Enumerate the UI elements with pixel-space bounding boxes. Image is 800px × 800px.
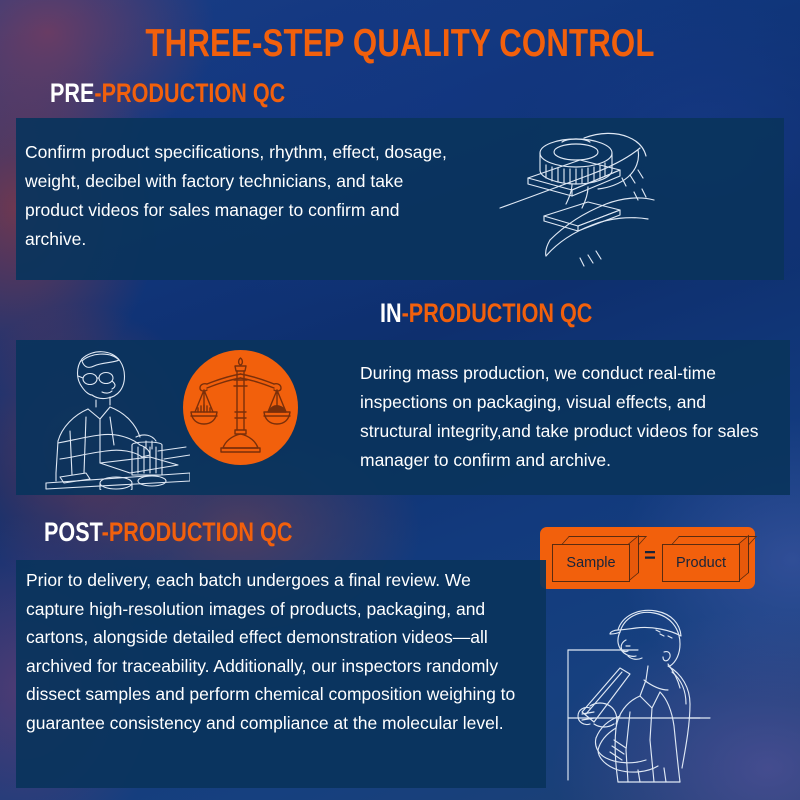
body-text-pre-production: Confirm product specifications, rhythm, … — [25, 138, 465, 254]
sample-label: Sample — [552, 544, 630, 582]
man-reviewing-tablet-icon — [560, 600, 760, 790]
infographic-poster: THREE-STEP QUALITY CONTROL PRE-PRODUCTIO… — [0, 0, 800, 800]
section-heading-in-production-suffix: -PRODUCTION QC — [402, 298, 593, 328]
section-heading-post-production-suffix: -PRODUCTION QC — [102, 517, 293, 547]
product-label: Product — [662, 544, 740, 582]
balance-scale-icon — [183, 350, 298, 465]
hand-holding-device-icon — [488, 120, 678, 270]
page-title: THREE-STEP QUALITY CONTROL — [80, 22, 720, 66]
section-heading-in-production-prefix: IN — [380, 298, 402, 328]
section-heading-pre-production: PRE-PRODUCTION QC — [50, 78, 285, 109]
equals-sign: = — [640, 545, 660, 568]
section-heading-post-production-prefix: POST — [44, 517, 102, 547]
section-heading-in-production: IN-PRODUCTION QC — [380, 298, 592, 329]
technician-inspecting-icon — [40, 345, 190, 490]
section-heading-pre-production-prefix: PRE — [50, 78, 94, 108]
body-text-in-production: During mass production, we conduct real-… — [360, 359, 780, 475]
section-heading-pre-production-suffix: -PRODUCTION QC — [94, 78, 285, 108]
section-heading-post-production: POST-PRODUCTION QC — [44, 517, 292, 548]
body-text-post-production: Prior to delivery, each batch undergoes … — [26, 566, 526, 737]
sample-equals-product-badge: Sample = Product — [540, 527, 755, 589]
